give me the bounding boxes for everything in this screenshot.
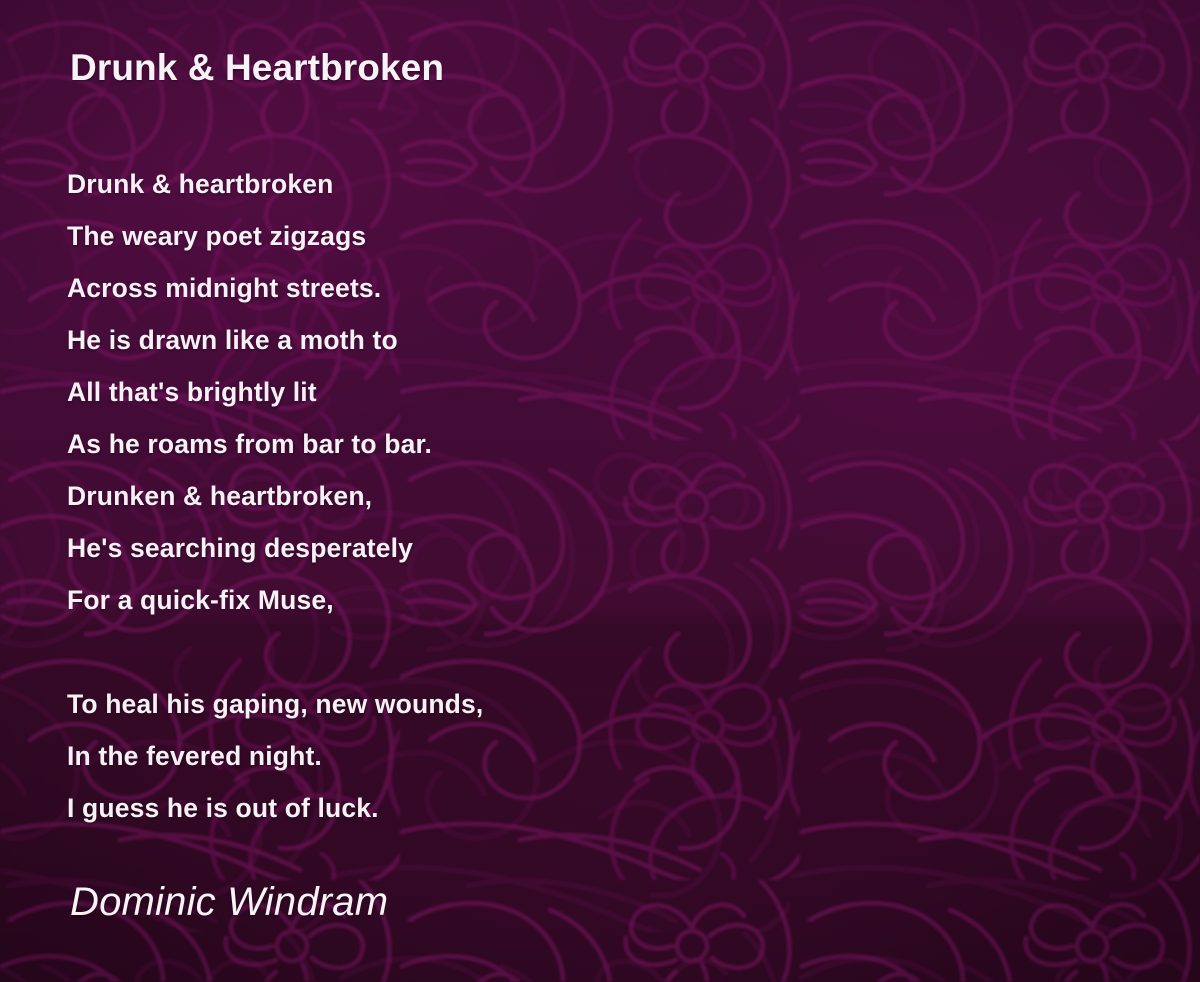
poem-stanza: Drunk & heartbroken The weary poet zigza… — [67, 158, 1067, 626]
poem-content: Drunk & Heartbroken Drunk & heartbroken … — [0, 0, 1200, 982]
poem-author: Dominic Windram — [70, 880, 388, 925]
poem-line: As he roams from bar to bar. — [67, 418, 1067, 470]
poem-line: The weary poet zigzags — [67, 210, 1067, 262]
poem-line: Across midnight streets. — [67, 262, 1067, 314]
poem-line: To heal his gaping, new wounds, — [67, 678, 1067, 730]
poem-body: Drunk & heartbroken The weary poet zigza… — [67, 158, 1067, 834]
poem-line: In the fevered night. — [67, 730, 1067, 782]
poem-image-canvas: Drunk & Heartbroken Drunk & heartbroken … — [0, 0, 1200, 982]
poem-line: Drunken & heartbroken, — [67, 470, 1067, 522]
poem-line: Drunk & heartbroken — [67, 158, 1067, 210]
poem-line: I guess he is out of luck. — [67, 782, 1067, 834]
poem-line: He's searching desperately — [67, 522, 1067, 574]
poem-line: He is drawn like a moth to — [67, 314, 1067, 366]
poem-stanza: To heal his gaping, new wounds, In the f… — [67, 678, 1067, 834]
page-title: Drunk & Heartbroken — [70, 47, 444, 89]
poem-line: For a quick-fix Muse, — [67, 574, 1067, 626]
poem-line: All that's brightly lit — [67, 366, 1067, 418]
